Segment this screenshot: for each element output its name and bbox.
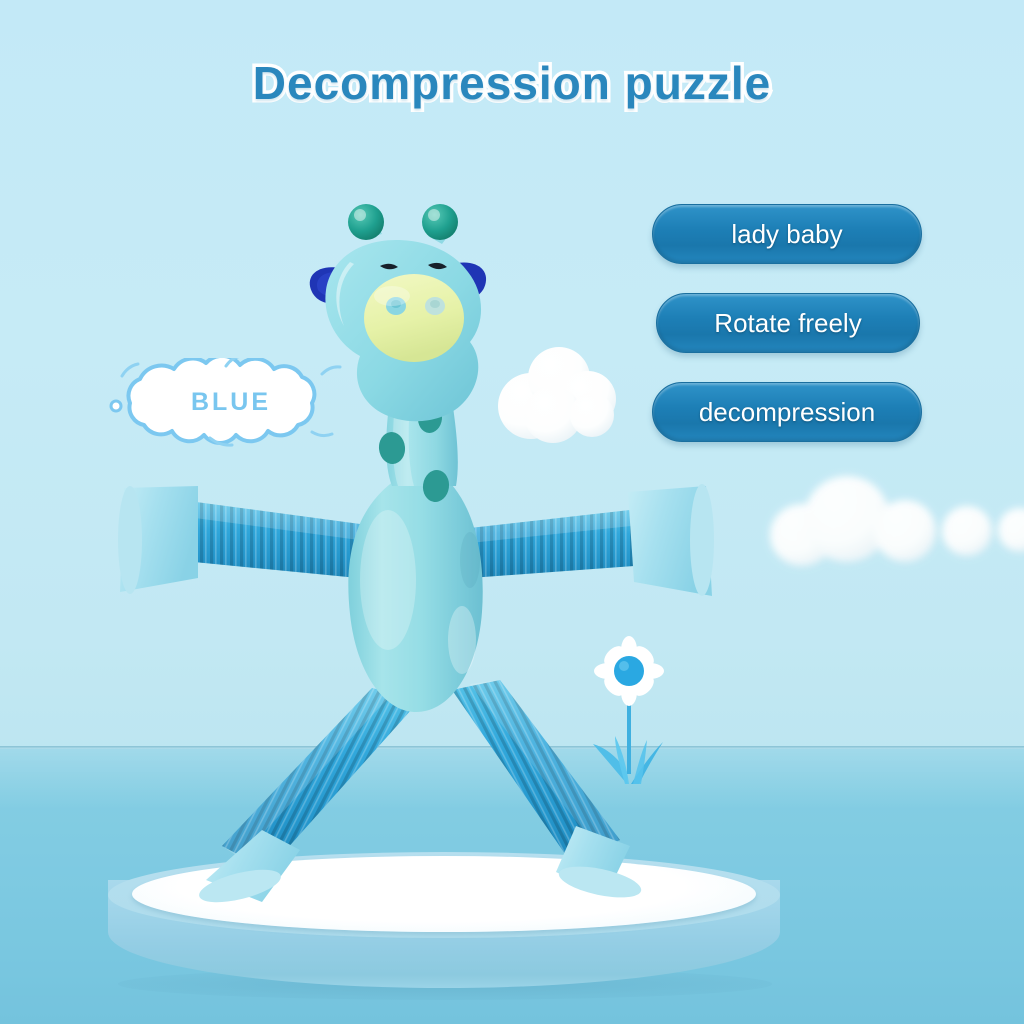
right-arm xyxy=(470,484,714,596)
right-ossicone xyxy=(422,204,458,240)
muzzle xyxy=(364,274,464,362)
left-leg xyxy=(196,688,420,909)
giraffe-toy xyxy=(0,0,1024,1024)
left-ossicone xyxy=(348,204,384,240)
right-leg xyxy=(452,680,644,903)
product-marketing-image: Decompression puzzle BLUE lady baby xyxy=(0,0,1024,1024)
giraffe-head xyxy=(310,204,486,421)
giraffe-torso xyxy=(348,470,482,712)
left-arm xyxy=(118,486,360,594)
